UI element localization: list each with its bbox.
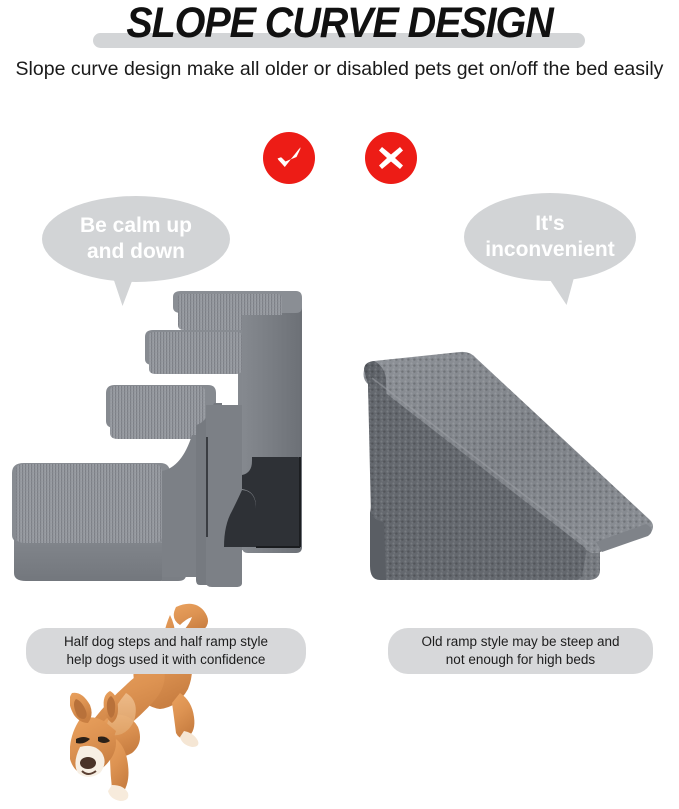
bubble-text: It's inconvenient — [464, 193, 636, 281]
speech-bubble-positive: Be calm up and down — [42, 196, 230, 282]
wedge-ramp-illustration — [350, 338, 658, 590]
close-icon — [365, 132, 417, 184]
page-title: SLOPE CURVE DESIGN — [27, 0, 652, 46]
product-wedge-ramp — [350, 338, 658, 590]
cross-badge — [365, 132, 417, 184]
check-icon — [263, 132, 315, 184]
dog-stairs-illustration — [10, 285, 340, 590]
speech-bubble-negative: It's inconvenient — [464, 193, 636, 281]
caption-left: Half dog steps and half ramp style help … — [26, 628, 306, 674]
page-subtitle: Slope curve design make all older or dis… — [0, 56, 679, 83]
bubble-text: Be calm up and down — [42, 196, 230, 282]
product-dog-stairs — [10, 285, 340, 590]
comparison-badges — [0, 130, 679, 186]
caption-right: Old ramp style may be steep and not enou… — [388, 628, 653, 674]
header: SLOPE CURVE DESIGN Slope curve design ma… — [0, 0, 679, 122]
check-badge — [263, 132, 315, 184]
